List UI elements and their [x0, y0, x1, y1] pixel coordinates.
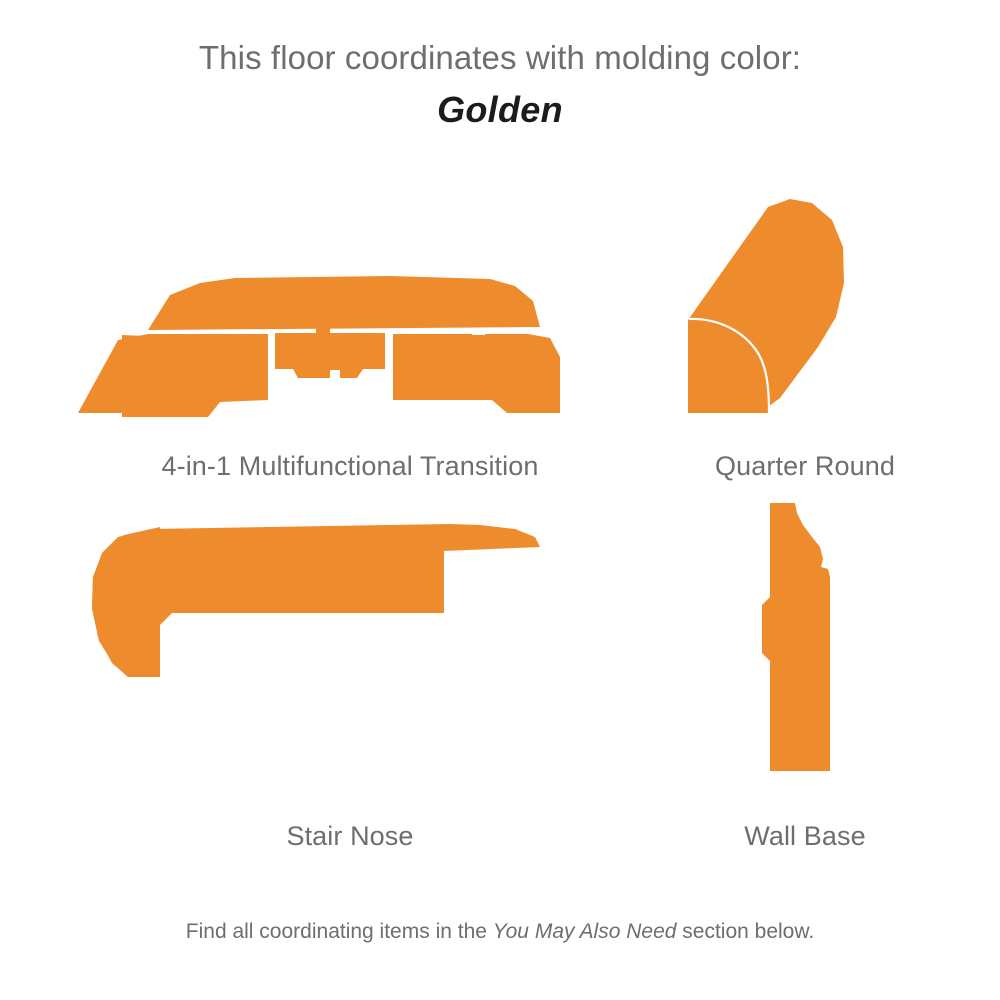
quarter-round-art	[640, 185, 970, 435]
quarter-round-icon	[640, 185, 970, 435]
page-title: This floor coordinates with molding colo…	[0, 36, 1000, 80]
molding-coordination-panel: This floor coordinates with molding colo…	[0, 0, 1000, 1000]
footer-suffix: section below.	[676, 920, 814, 943]
product-item-wall-base[interactable]: Wall Base	[640, 485, 970, 853]
stair-nose-icon	[60, 485, 640, 805]
product-label-stair-nose: Stair Nose	[60, 819, 640, 853]
stair-nose-art	[60, 485, 640, 805]
header: This floor coordinates with molding colo…	[0, 36, 1000, 133]
transition-profile-art	[60, 185, 640, 435]
wall-base-icon	[640, 485, 970, 805]
wall-base-art	[640, 485, 970, 805]
molding-color-name: Golden	[0, 87, 1000, 133]
footer-emphasis: You May Also Need	[493, 920, 677, 943]
footer-note: Find all coordinating items in the You M…	[0, 918, 1000, 946]
transition-profile-icon	[60, 185, 640, 435]
product-item-quarter-round[interactable]: Quarter Round	[640, 185, 970, 483]
product-label-quarter-round: Quarter Round	[640, 449, 970, 483]
product-label-transition: 4-in-1 Multifunctional Transition	[60, 449, 640, 483]
product-label-wall-base: Wall Base	[640, 819, 970, 853]
product-item-stair-nose[interactable]: Stair Nose	[60, 485, 640, 853]
product-grid: 4-in-1 Multifunctional Transition Quarte…	[0, 185, 1000, 875]
product-item-transition[interactable]: 4-in-1 Multifunctional Transition	[60, 185, 640, 483]
footer-prefix: Find all coordinating items in the	[186, 920, 493, 943]
